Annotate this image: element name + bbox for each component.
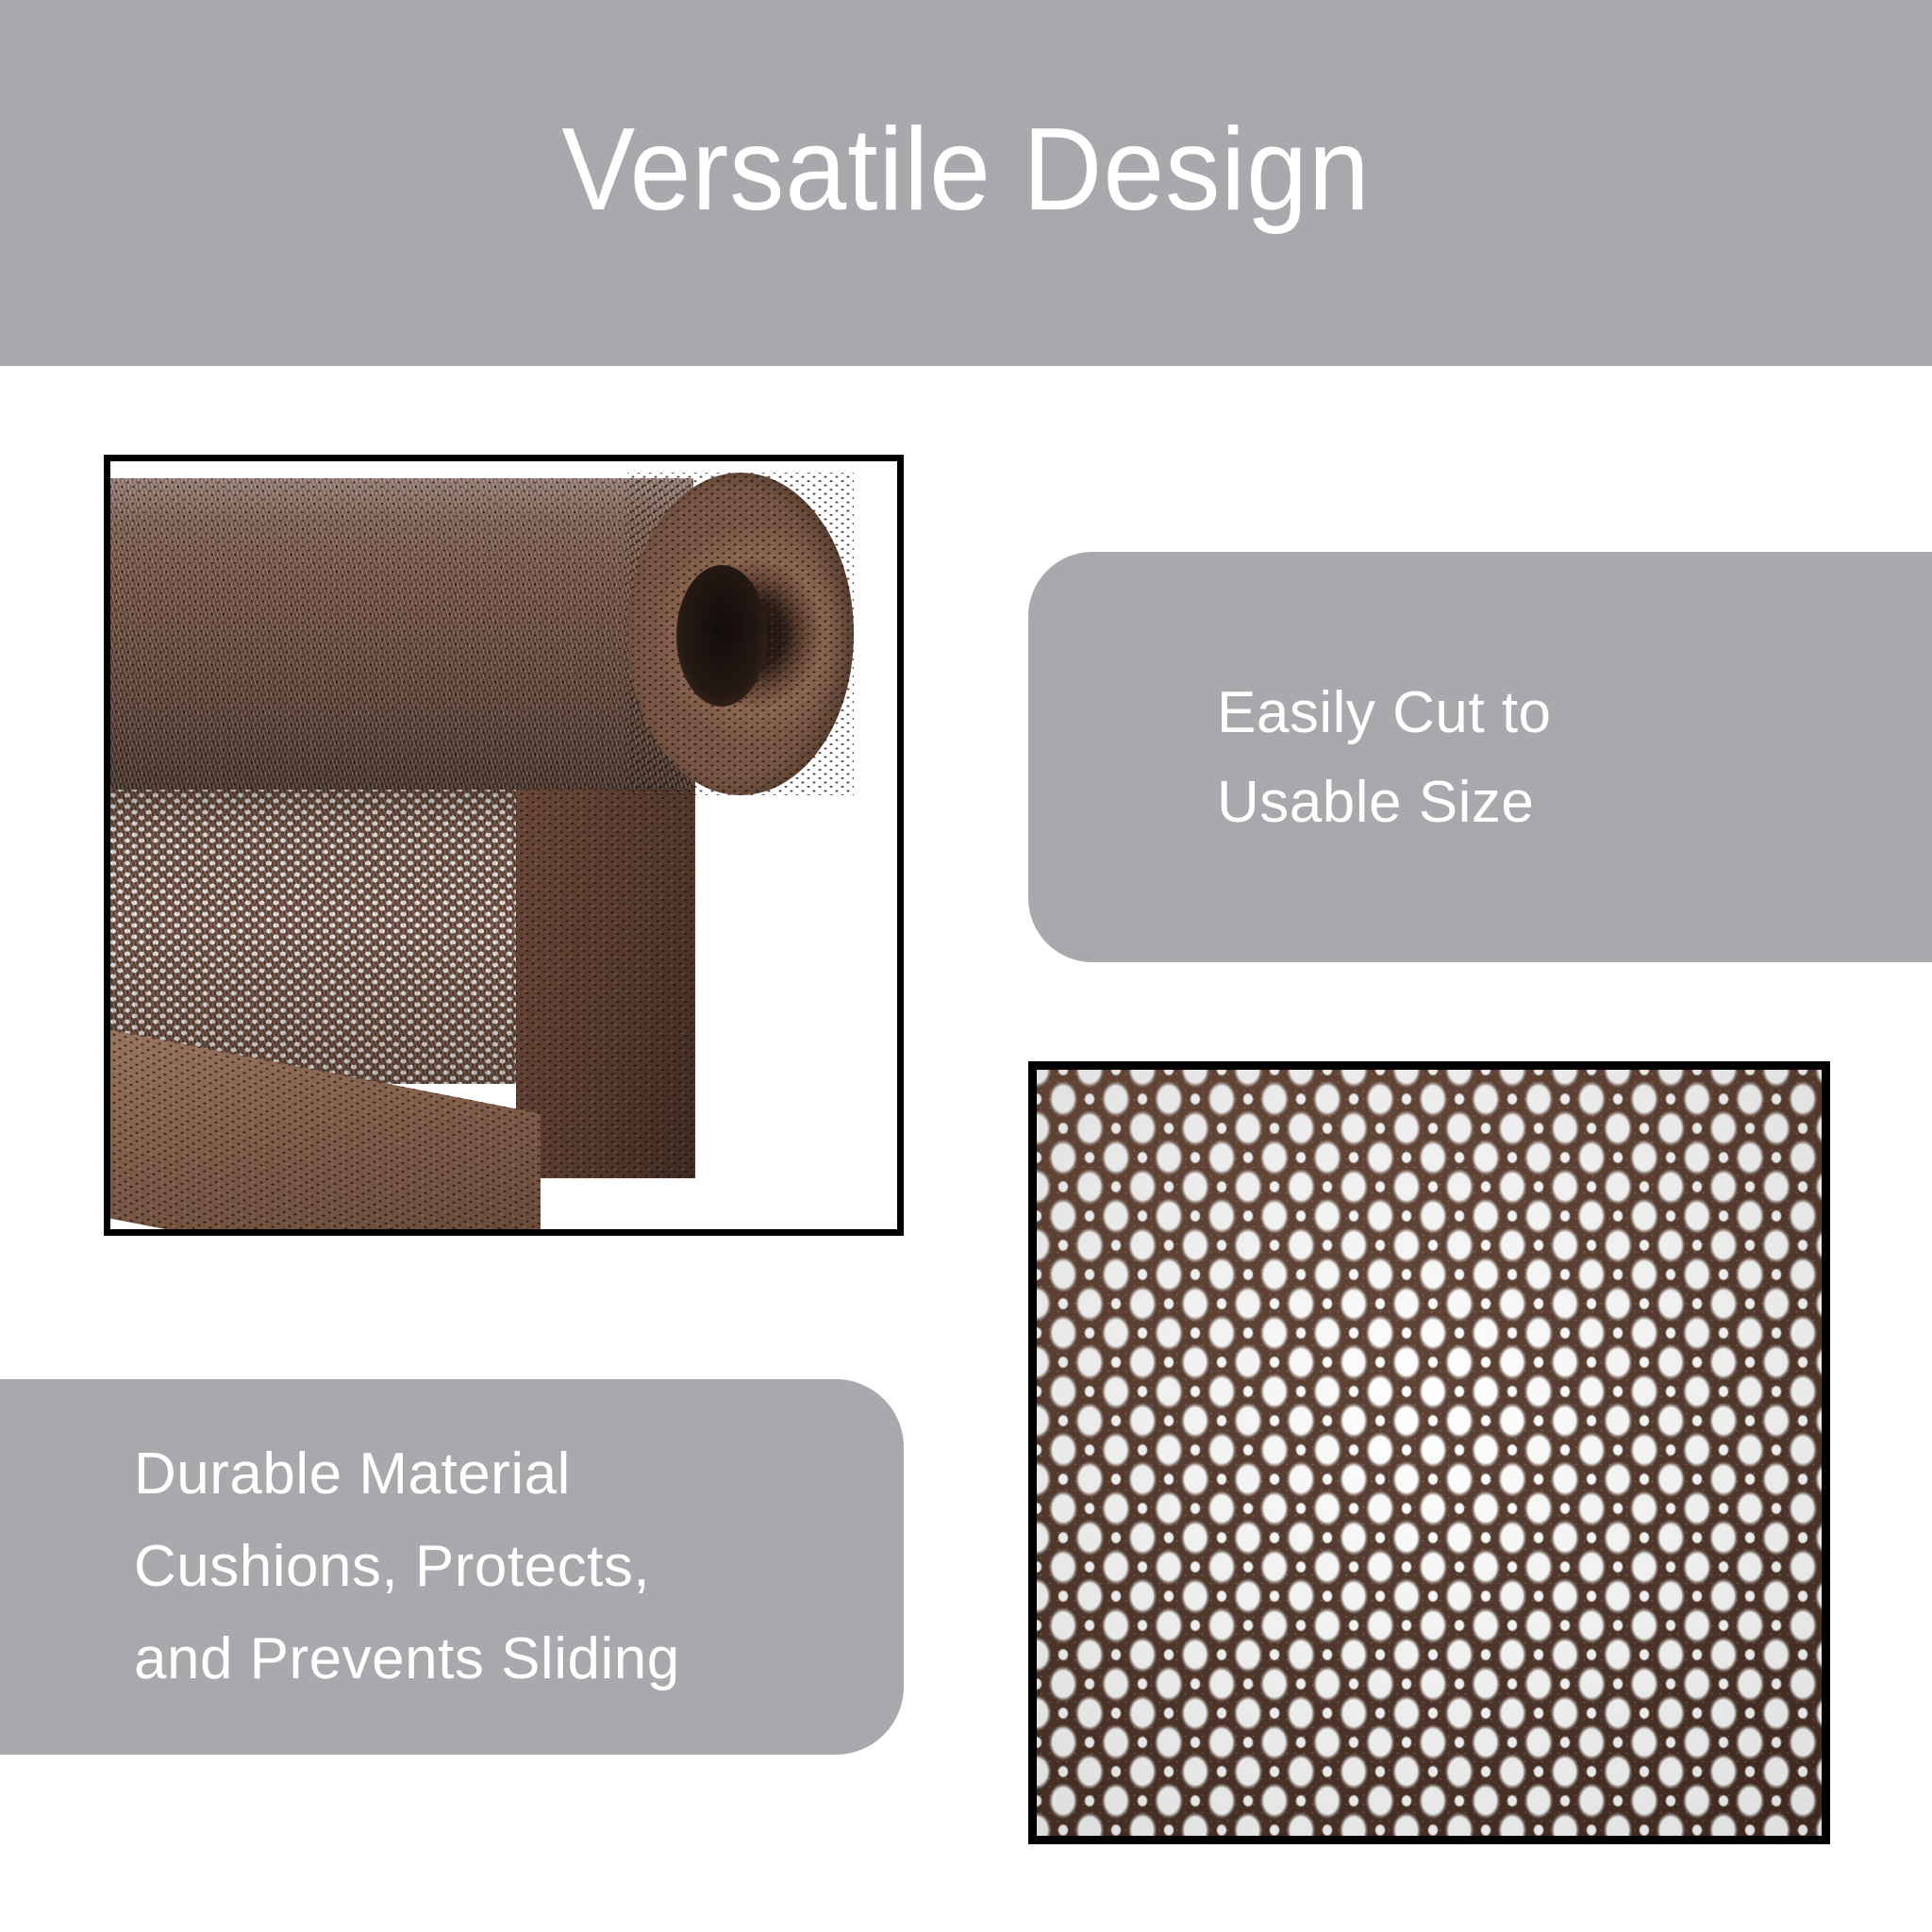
callout-easily-cut: Easily Cut to Usable Size — [1028, 552, 1932, 962]
product-roll-image-frame — [104, 455, 904, 1236]
liner-roll-core-hole — [676, 565, 767, 707]
liner-rolled-tube — [110, 478, 693, 790]
callout-durable-material: Durable Material Cushions, Protects, and… — [0, 1379, 904, 1755]
liner-tube-knit-texture — [110, 478, 693, 790]
callout-durable-line-2: Cushions, Protects, — [134, 1521, 904, 1613]
callout-durable-line-1: Durable Material — [134, 1428, 904, 1521]
mesh-closeup-image-frame — [1028, 1061, 1830, 1844]
mesh-texture-closeup-photo — [1037, 1070, 1822, 1836]
callout-durable-line-3: and Prevents Sliding — [134, 1613, 904, 1706]
page-title: Versatile Design — [561, 111, 1370, 228]
liner-drape-mesh-texture — [516, 773, 695, 1178]
callout-easily-cut-line-1: Easily Cut to — [1217, 668, 1932, 758]
rolled-shelf-liner-photo — [110, 461, 897, 1229]
liner-right-drape — [516, 773, 695, 1178]
header-banner: Versatile Design — [0, 0, 1932, 366]
callout-easily-cut-line-2: Usable Size — [1217, 758, 1932, 847]
